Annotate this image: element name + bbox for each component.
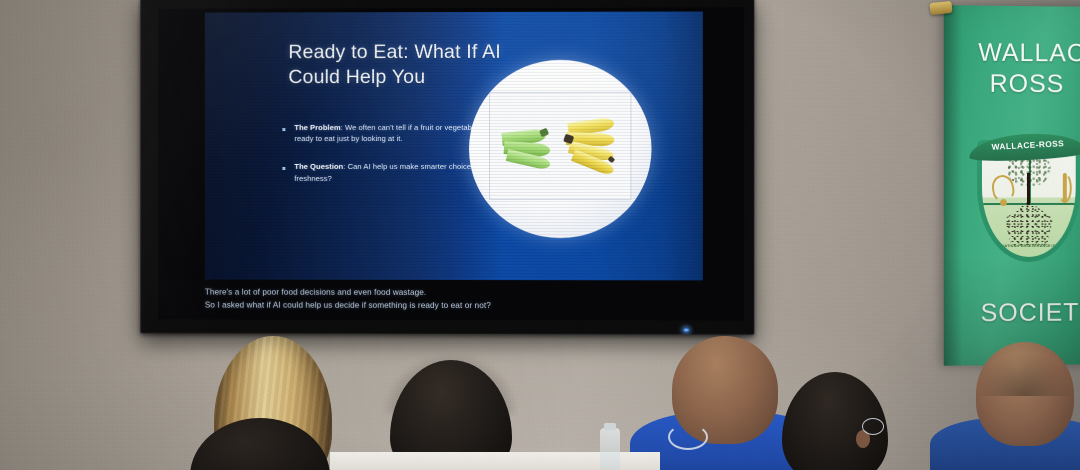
room-scene: Ready to Eat: What If AI Could Help You …	[0, 0, 1080, 470]
crest-motto: DETERMINATION•PERSEVERANCE•STRENGTH	[982, 244, 1076, 248]
banner-word-wallace: WALLACE	[966, 39, 1080, 69]
society-crest: DETERMINATION•PERSEVERANCE•STRENGTH WALL…	[969, 126, 1080, 266]
photo-vignette	[0, 0, 1080, 470]
banner-bottom-shadow	[944, 255, 1080, 366]
snake-icon	[1058, 173, 1072, 203]
tree-with-roots-icon	[1003, 151, 1055, 247]
banner-word-ross: ROSS	[952, 70, 1080, 100]
society-banner: WALLACE ROSS DETERMINATION•PERSEVERANCE•…	[944, 5, 1080, 366]
banner-hanging-rod	[929, 1, 952, 15]
